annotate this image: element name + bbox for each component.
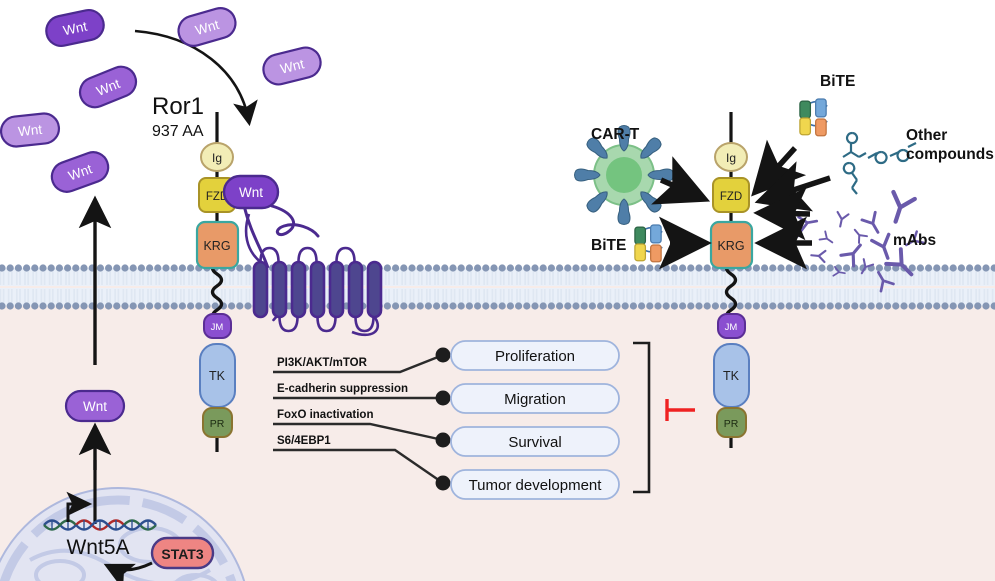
arrow-mabs-to-krg-upper (762, 213, 810, 214)
domain-pr-label: PR (210, 418, 225, 430)
wnt-ligand-label: Wnt (83, 399, 107, 414)
wnt-ligand: Wnt (66, 391, 124, 421)
outcome-label-1: Migration (504, 391, 566, 408)
bite-left-label: BiTE (591, 237, 626, 254)
domain-krg-right-label: KRG (717, 239, 744, 253)
pathway-label-2: FoxO inactivation (277, 409, 374, 421)
receptor-title: Ror1 (152, 93, 204, 120)
domain-tk-label: TK (209, 369, 226, 383)
pathway-label-1: E-cadherin suppression (277, 383, 408, 395)
bound-wnt-label: Wnt (239, 185, 263, 200)
mabs-label: mAbs (893, 232, 936, 249)
domain-ig-label: Ig (212, 151, 222, 165)
pathway-label-0: PI3K/AKT/mTOR (277, 357, 368, 369)
other-compounds-label-line1: Other (906, 127, 947, 144)
domain-fzd-right-label: FZD (720, 191, 742, 203)
gene-label-wnt5a: Wnt5A (66, 536, 129, 559)
wnt-ligand-label: Wnt (17, 122, 43, 139)
outcome-label-2: Survival (508, 434, 561, 451)
pathway-diagram: Ig FZD KRG JM TK PR Ror1 937 AA Wnt (0, 0, 995, 581)
stat3-label: STAT3 (161, 546, 203, 562)
domain-jm-label: JM (211, 322, 224, 333)
domain-pr-right-label: PR (724, 418, 739, 430)
car-t-label: CAR-T (591, 126, 640, 143)
domain-krg-label: KRG (203, 239, 230, 253)
extracellular-background (0, 0, 995, 286)
outcome-label-3: Tumor development (469, 477, 603, 494)
receptor-size-label: 937 AA (152, 123, 204, 140)
figure-canvas: Ig FZD KRG JM TK PR Ror1 937 AA Wnt (0, 0, 995, 581)
domain-jm-right-label: JM (725, 322, 738, 333)
bite-top-label: BiTE (820, 73, 855, 90)
outcome-label-0: Proliferation (495, 348, 575, 365)
plasma-membrane (0, 263, 995, 310)
wnt-ligand: Wnt (0, 112, 60, 148)
other-compounds-label-line2: compounds (906, 146, 994, 163)
domain-tk-right-label: TK (723, 369, 740, 383)
domain-ig-right-label: Ig (726, 151, 736, 165)
pathway-label-3: S6/4EBP1 (277, 435, 331, 447)
